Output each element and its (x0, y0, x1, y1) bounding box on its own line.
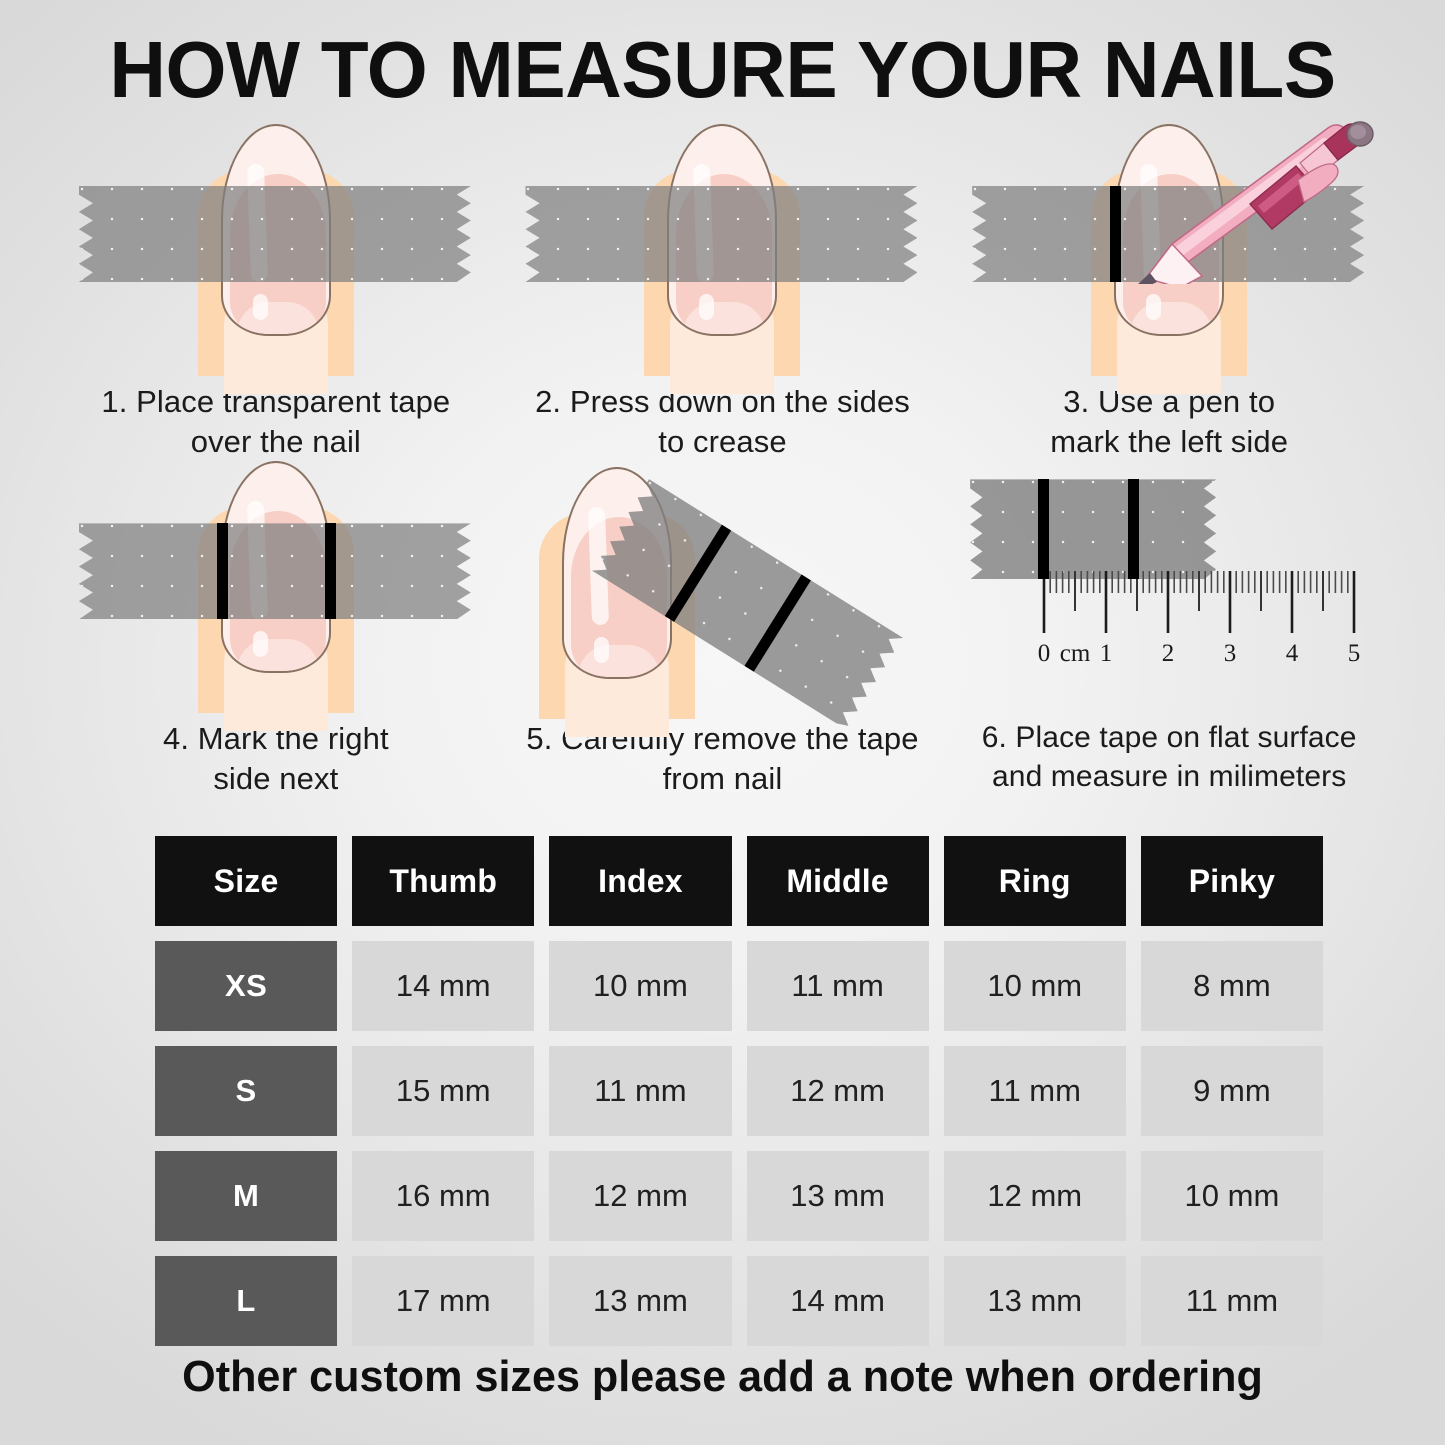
cell-middle: 11 mm (747, 941, 929, 1031)
pen-mark-left (217, 523, 228, 619)
ruler-tick-label: 2 (1162, 640, 1175, 667)
step-4: 4. Mark the right side next (53, 461, 500, 798)
table-row: L 17 mm 13 mm 14 mm 13 mm 11 mm (155, 1256, 1323, 1346)
size-chart-table: Size Thumb Index Middle Ring Pinky XS 14… (155, 836, 1323, 1361)
step-3: 3. Use a pen to mark the left side (946, 124, 1393, 461)
cell-ring: 12 mm (944, 1151, 1126, 1241)
tape-strip (525, 186, 917, 282)
cell-middle: 14 mm (747, 1256, 929, 1346)
column-header-middle: Middle (747, 836, 929, 926)
step-2: 2. Press down on the sides to crease (499, 124, 946, 461)
pen-mark-right (745, 575, 812, 672)
ruler-unit-label: cm (1060, 640, 1091, 667)
step-6-illustration: 012345cm (954, 461, 1384, 713)
steps-grid: 1. Place transparent tape over the nail … (53, 124, 1393, 799)
column-header-size: Size (155, 836, 337, 926)
cell-pinky: 11 mm (1141, 1256, 1323, 1346)
step-3-illustration (954, 124, 1384, 376)
nail-shine-small (253, 631, 268, 657)
ruler-tick-label: 0 (1038, 640, 1051, 667)
cell-middle: 12 mm (747, 1046, 929, 1136)
ruler-tick-label: 1 (1100, 640, 1113, 667)
size-label: S (155, 1046, 337, 1136)
nail-shine-small (253, 294, 268, 320)
step-5-line-2: from nail (507, 759, 937, 799)
ruler-graphic: 012345cm (960, 467, 1384, 707)
size-label: M (155, 1151, 337, 1241)
pen-mark-left (665, 525, 732, 622)
table-row: XS 14 mm 10 mm 11 mm 10 mm 8 mm (155, 941, 1323, 1031)
cell-thumb: 16 mm (352, 1151, 534, 1241)
cell-index: 12 mm (549, 1151, 731, 1241)
cell-thumb: 15 mm (352, 1046, 534, 1136)
pen-mark-right (325, 523, 336, 619)
ruler-tick-label: 4 (1286, 640, 1299, 667)
tape-strip (79, 523, 471, 619)
pen-mark-left (1110, 186, 1121, 282)
tape-strip (79, 186, 471, 282)
size-label: L (155, 1256, 337, 1346)
footer-note: Other custom sizes please add a note whe… (14, 1352, 1430, 1402)
cell-ring: 11 mm (944, 1046, 1126, 1136)
nail-shine-small (594, 637, 609, 663)
step-4-line-2: side next (61, 759, 491, 799)
step-1: 1. Place transparent tape over the nail (53, 124, 500, 461)
step-1-illustration (61, 124, 491, 376)
cell-index: 11 mm (549, 1046, 731, 1136)
ruler-tick-label: 5 (1348, 640, 1361, 667)
step-1-line-2: over the nail (61, 422, 491, 462)
cell-index: 13 mm (549, 1256, 731, 1346)
cell-middle: 13 mm (747, 1151, 929, 1241)
pen-mark-right (1128, 479, 1139, 579)
cell-index: 10 mm (549, 941, 731, 1031)
table-header-row: Size Thumb Index Middle Ring Pinky (155, 836, 1323, 926)
step-6: 012345cm 6. Place tape on flat surface a… (946, 461, 1393, 798)
step-4-illustration (61, 461, 491, 713)
nail-shine-small (699, 294, 714, 320)
column-header-thumb: Thumb (352, 836, 534, 926)
size-label: XS (155, 941, 337, 1031)
column-header-ring: Ring (944, 836, 1126, 926)
step-2-illustration (507, 124, 937, 376)
step-3-line-2: mark the left side (954, 422, 1384, 462)
step-5: 5. Carefully remove the tape from nail (499, 461, 946, 798)
tape-strip-flat (970, 479, 1216, 579)
step-6-caption: 6. Place tape on flat surface and measur… (954, 719, 1384, 796)
nail-shine-small (1146, 294, 1161, 320)
cell-pinky: 10 mm (1141, 1151, 1323, 1241)
cell-thumb: 14 mm (352, 941, 534, 1031)
ruler-scale: 012345cm (960, 571, 1384, 691)
cell-thumb: 17 mm (352, 1256, 534, 1346)
pen-icon (1132, 118, 1376, 284)
cell-ring: 10 mm (944, 941, 1126, 1031)
table-row: S 15 mm 11 mm 12 mm 11 mm 9 mm (155, 1046, 1323, 1136)
step-6-line-1: 6. Place tape on flat surface (954, 719, 1384, 757)
cell-pinky: 8 mm (1141, 941, 1323, 1031)
table-row: M 16 mm 12 mm 13 mm 12 mm 10 mm (155, 1151, 1323, 1241)
cell-pinky: 9 mm (1141, 1046, 1323, 1136)
page-title: HOW TO MEASURE YOUR NAILS (14, 0, 1430, 110)
step-6-line-2: and measure in milimeters (954, 758, 1384, 796)
column-header-pinky: Pinky (1141, 836, 1323, 926)
column-header-index: Index (549, 836, 731, 926)
cell-ring: 13 mm (944, 1256, 1126, 1346)
step-5-illustration (507, 461, 937, 713)
pen-mark-left (1038, 479, 1049, 579)
ruler-tick-label: 3 (1224, 640, 1237, 667)
step-2-line-2: to crease (507, 422, 937, 462)
